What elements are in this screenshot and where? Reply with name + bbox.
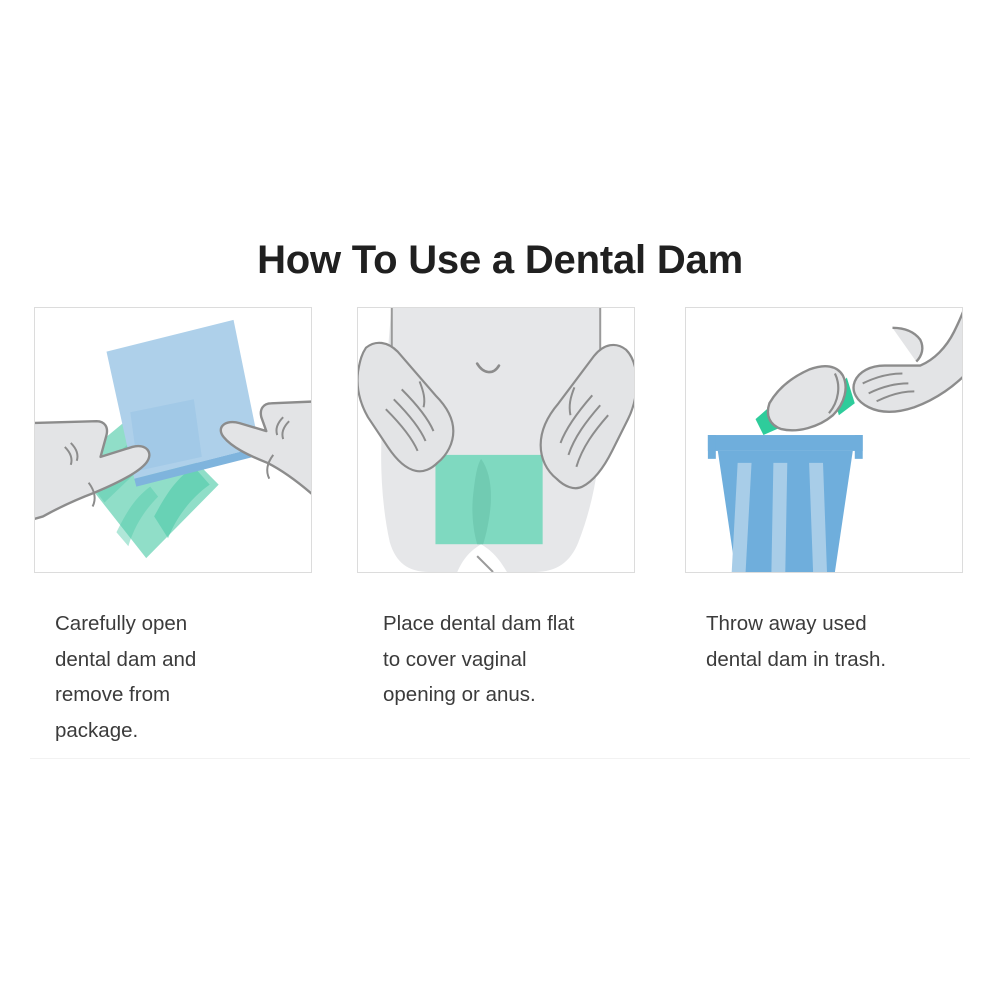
page-title: How To Use a Dental Dam	[0, 240, 1000, 280]
rolled-used-dam	[756, 366, 855, 435]
infographic-page: How To Use a Dental Dam	[0, 0, 1000, 1000]
step-2-illustration-panel	[357, 307, 635, 573]
step-2-caption: Place dental dam flat to cover vaginal o…	[383, 606, 633, 713]
blue-trash-can	[708, 435, 863, 572]
step-3-illustration-panel	[685, 307, 963, 573]
step-3-caption: Throw away used dental dam in trash.	[706, 606, 971, 677]
hands-opening-package-illustration	[35, 308, 311, 572]
step-1-caption: Carefully open dental dam and remove fro…	[55, 606, 305, 748]
placing-dam-on-body-illustration	[358, 308, 634, 572]
footer-divider	[30, 758, 970, 759]
dropping-dam-in-trash-illustration	[686, 308, 962, 572]
green-dental-dam-square	[435, 455, 542, 544]
step-1-illustration-panel	[34, 307, 312, 573]
hand	[854, 308, 962, 412]
